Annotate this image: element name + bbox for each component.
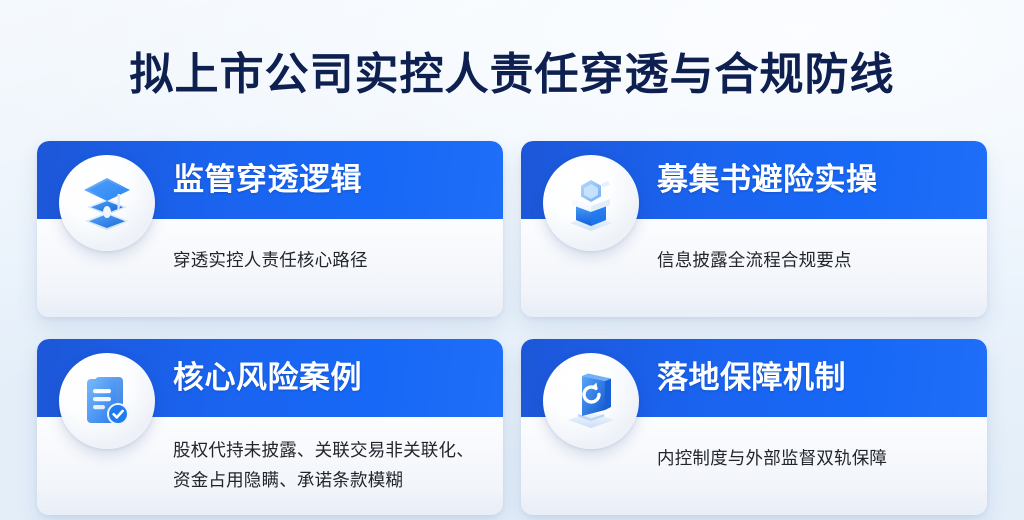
- card-title: 核心风险案例: [173, 359, 362, 397]
- stacked-layers-graduation-icon: [59, 155, 155, 251]
- card-bottom-fade: [37, 291, 503, 317]
- card-body-text: 内控制度与外部监督双轨保障: [657, 443, 965, 473]
- card-bottom-fade: [521, 489, 987, 515]
- card-body-text: 信息披露全流程合规要点: [657, 245, 965, 275]
- slide-canvas: 拟上市公司实控人责任穿透与合规防线 监管穿透逻辑: [0, 0, 1024, 520]
- card-grid: 监管穿透逻辑: [37, 141, 987, 515]
- document-check-icon: [59, 353, 155, 449]
- card-title: 监管穿透逻辑: [173, 161, 362, 199]
- card-implementation-safeguards[interactable]: 落地保障机制: [521, 339, 987, 515]
- card-title: 募集书避险实操: [657, 161, 878, 199]
- card-title: 落地保障机制: [657, 359, 846, 397]
- card-body-text: 穿透实控人责任核心路径: [173, 245, 481, 275]
- card-body-text: 股权代持未披露、关联交易非关联化、资金占用隐瞒、承诺条款模糊: [173, 435, 487, 495]
- card-prospectus-practice[interactable]: 募集书避险实操: [521, 141, 987, 317]
- card-bottom-fade: [521, 291, 987, 317]
- open-box-shield-icon: [543, 155, 639, 251]
- shield-refresh-icon: [543, 353, 639, 449]
- card-regulatory-penetration[interactable]: 监管穿透逻辑: [37, 141, 503, 317]
- page-title: 拟上市公司实控人责任穿透与合规防线: [0, 47, 1024, 103]
- card-core-risk-cases[interactable]: 核心风险案例: [37, 339, 503, 515]
